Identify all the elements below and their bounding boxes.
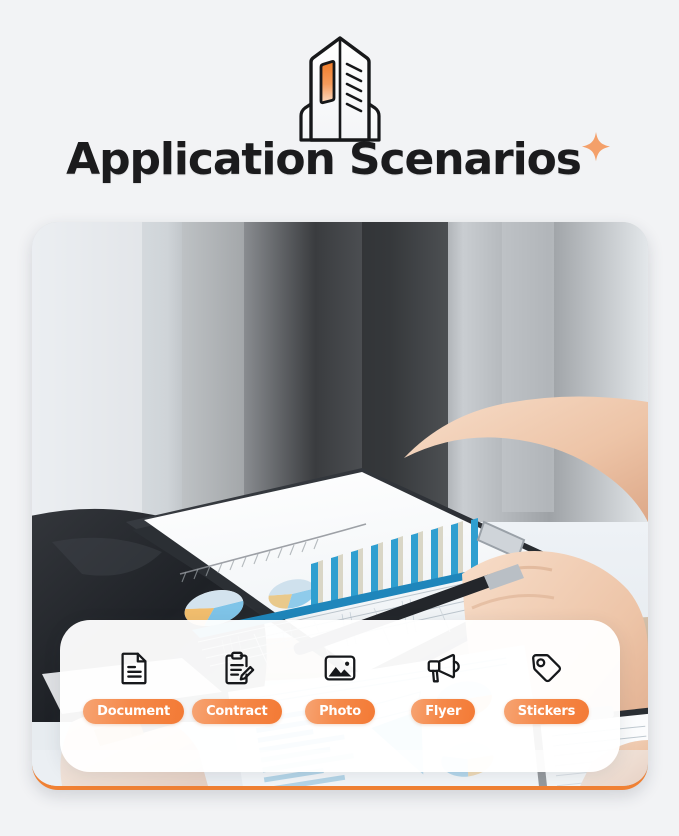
badge-label-contract[interactable]: Contract [192, 699, 281, 724]
price-tag-icon [524, 646, 568, 690]
document-icon [112, 646, 156, 690]
badge-item-photo[interactable]: Photo [288, 646, 391, 724]
sparkle-star-icon [579, 130, 613, 164]
badge-label-stickers[interactable]: Stickers [504, 699, 589, 724]
badge-label-document[interactable]: Document [83, 699, 184, 724]
image-icon [318, 646, 362, 690]
megaphone-icon [421, 646, 465, 690]
header: Application Scenarios [0, 0, 679, 210]
clipboard-pencil-icon [215, 646, 259, 690]
logo-wrapper [0, 32, 679, 142]
scenario-badge-panel: Document Contract Photo [60, 620, 620, 772]
badge-item-contract[interactable]: Contract [185, 646, 288, 724]
badge-item-flyer[interactable]: Flyer [392, 646, 495, 724]
building-icon [279, 34, 401, 142]
badge-item-document[interactable]: Document [82, 646, 185, 724]
badge-label-flyer[interactable]: Flyer [411, 699, 475, 724]
badge-label-photo[interactable]: Photo [305, 699, 375, 724]
title-row: Application Scenarios [0, 128, 679, 192]
page-title: Application Scenarios [66, 138, 581, 182]
badge-item-stickers[interactable]: Stickers [495, 646, 598, 724]
